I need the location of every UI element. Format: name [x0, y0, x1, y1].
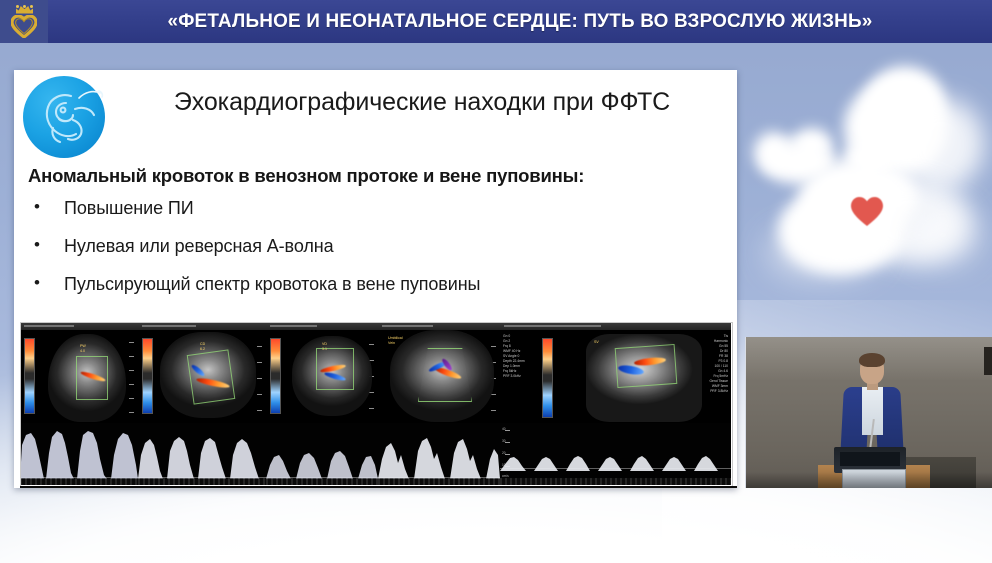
slide-lead-text: Аномальный кровоток в венозном протоке и…	[28, 165, 584, 187]
slide-title: Эхокардиографические находки при ФФТС	[122, 88, 722, 117]
ultrasound-panel: UmbilicalVein	[378, 322, 500, 485]
ultrasound-doppler-image-strip: PW4.0	[20, 322, 731, 485]
wall-dark-panel	[984, 347, 992, 375]
screen-root: «ФЕТАЛЬНОЕ И НЕОНАТАЛЬНОЕ СЕРДЦЕ: ПУТЬ В…	[0, 0, 992, 563]
ultrasound-panel: CD6.2	[138, 322, 266, 485]
crown-heart-crest-logo	[0, 0, 48, 43]
spectral-doppler-trace	[20, 423, 138, 485]
speaker-video-panel[interactable]	[745, 337, 992, 488]
spectral-doppler-trace: 40 30 20 10 cm/s	[500, 423, 731, 485]
ultrasound-panel: VD3.1	[266, 322, 378, 485]
color-doppler-scale	[24, 338, 35, 414]
slide-bottom-bar	[20, 486, 737, 488]
ultrasound-panel: Gn 0Gn 2Frq 8 WMF 40 HzSV Angle 0Depth 2…	[500, 322, 731, 485]
list-item: Повышение ПИ	[28, 198, 718, 219]
color-doppler-scale	[142, 338, 153, 414]
ultrasound-panel: PW4.0	[20, 322, 138, 485]
presentation-slide: Эхокардиографические находки при ФФТС Ан…	[14, 70, 737, 488]
header-title: «ФЕТАЛЬНОЕ И НЕОНАТАЛЬНОЕ СЕРДЦЕ: ПУТЬ В…	[62, 0, 978, 43]
spectral-doppler-trace	[266, 423, 378, 485]
spectral-doppler-trace	[378, 423, 500, 485]
list-item: Нулевая или реверсная А-волна	[28, 236, 718, 257]
bullet-list: Повышение ПИ Нулевая или реверсная А-вол…	[28, 198, 718, 312]
spectral-doppler-trace	[138, 423, 266, 485]
red-heart-icon	[850, 196, 884, 227]
list-item: Пульсирующий спектр кровотока в вене пуп…	[28, 274, 718, 295]
fetus-shaped-cloud	[748, 58, 992, 338]
header-bar: «ФЕТАЛЬНОЕ И НЕОНАТАЛЬНОЕ СЕРДЦЕ: ПУТЬ В…	[0, 0, 992, 43]
color-doppler-scale	[270, 338, 281, 414]
fetus-in-circle-logo	[23, 76, 109, 162]
